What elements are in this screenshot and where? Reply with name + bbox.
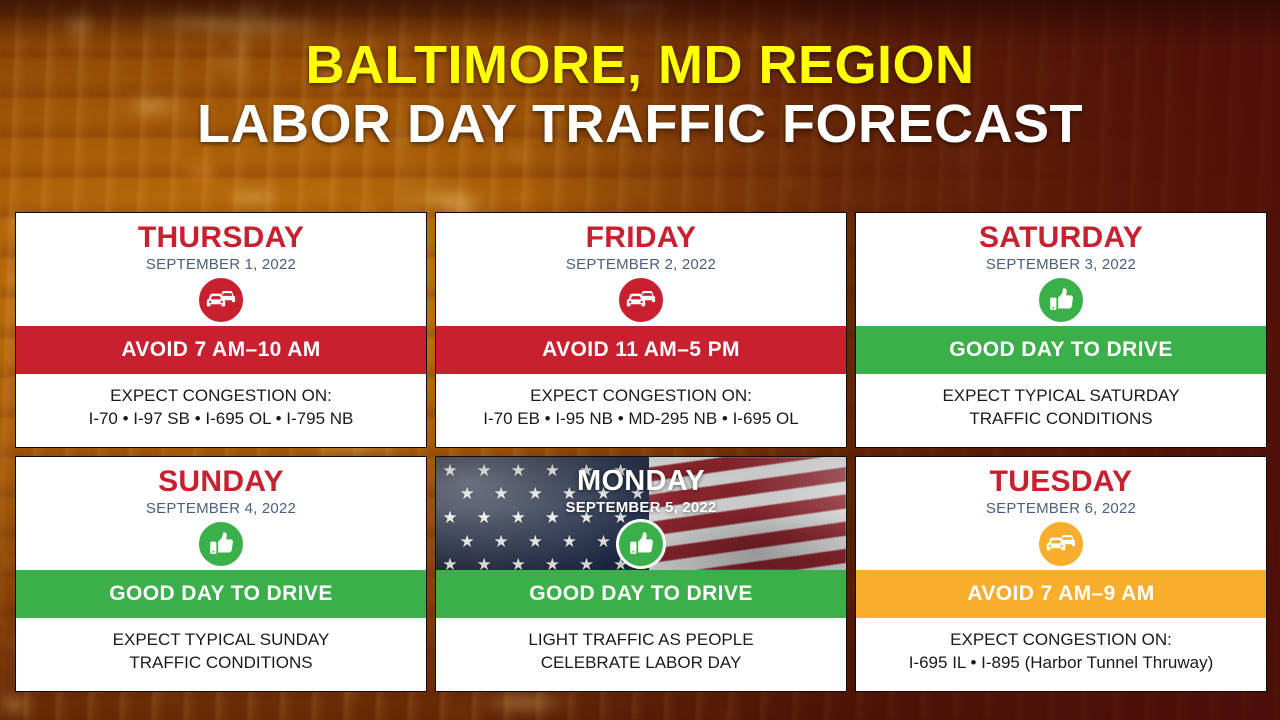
detail-line-2: CELEBRATE LABOR DAY: [528, 652, 753, 674]
forecast-card-saturday: SATURDAYSEPTEMBER 3, 2022GOOD DAY TO DRI…: [855, 212, 1267, 448]
status-band: AVOID 7 AM–10 AM: [16, 326, 426, 374]
forecast-card-monday: ★★★★★★★★★★★★★★★★★★★★★★★★★★★★★★MONDAYSEPT…: [435, 456, 847, 692]
page-title-region: BALTIMORE, MD REGION: [0, 38, 1280, 93]
status-band: GOOD DAY TO DRIVE: [856, 326, 1266, 374]
forecast-card-friday: FRIDAYSEPTEMBER 2, 2022AVOID 11 AM–5 PME…: [435, 212, 847, 448]
date-label: SEPTEMBER 3, 2022: [986, 256, 1136, 273]
date-label: SEPTEMBER 5, 2022: [566, 499, 717, 516]
card-detail: EXPECT CONGESTION ON:I-70 EB • I-95 NB •…: [436, 374, 846, 447]
traffic-cars-icon: [1036, 519, 1086, 569]
page-title-subject: LABOR DAY TRAFFIC FORECAST: [0, 93, 1280, 157]
detail-line-2: TRAFFIC CONDITIONS: [942, 408, 1179, 430]
date-label: SEPTEMBER 1, 2022: [146, 256, 296, 273]
card-header: FRIDAYSEPTEMBER 2, 2022: [436, 213, 846, 326]
detail-line-1: EXPECT TYPICAL SATURDAY: [942, 386, 1179, 405]
day-label: SUNDAY: [158, 466, 284, 498]
detail-line-1: EXPECT CONGESTION ON:: [950, 630, 1172, 649]
card-detail: LIGHT TRAFFIC AS PEOPLECELEBRATE LABOR D…: [436, 618, 846, 691]
status-badge: GOOD DAY TO DRIVE: [109, 582, 332, 606]
card-detail: EXPECT CONGESTION ON:I-695 IL • I-895 (H…: [856, 618, 1266, 691]
forecast-card-tuesday: TUESDAYSEPTEMBER 6, 2022AVOID 7 AM–9 AME…: [855, 456, 1267, 692]
card-detail: EXPECT CONGESTION ON:I-70 • I-97 SB • I-…: [16, 374, 426, 447]
status-band: GOOD DAY TO DRIVE: [16, 570, 426, 618]
status-badge: AVOID 11 AM–5 PM: [542, 338, 740, 362]
detail-line-2: TRAFFIC CONDITIONS: [113, 652, 330, 674]
card-header: THURSDAYSEPTEMBER 1, 2022: [16, 213, 426, 326]
day-label: THURSDAY: [138, 222, 304, 254]
status-badge: AVOID 7 AM–9 AM: [967, 582, 1154, 606]
thumbs-up-icon: [1036, 275, 1086, 325]
detail-line-2: I-695 IL • I-895 (Harbor Tunnel Thruway): [909, 652, 1214, 674]
card-detail: EXPECT TYPICAL SUNDAYTRAFFIC CONDITIONS: [16, 618, 426, 691]
detail-line-1: EXPECT CONGESTION ON:: [530, 386, 752, 405]
forecast-card-sunday: SUNDAYSEPTEMBER 4, 2022GOOD DAY TO DRIVE…: [15, 456, 427, 692]
card-header: SATURDAYSEPTEMBER 3, 2022: [856, 213, 1266, 326]
day-label: SATURDAY: [979, 222, 1143, 254]
status-badge: AVOID 7 AM–10 AM: [121, 338, 320, 362]
status-badge: GOOD DAY TO DRIVE: [949, 338, 1172, 362]
day-label: TUESDAY: [990, 466, 1133, 498]
card-detail: EXPECT TYPICAL SATURDAYTRAFFIC CONDITION…: [856, 374, 1266, 447]
detail-line-2: I-70 EB • I-95 NB • MD-295 NB • I-695 OL: [483, 408, 798, 430]
header: BALTIMORE, MD REGION LABOR DAY TRAFFIC F…: [0, 0, 1280, 157]
card-header: TUESDAYSEPTEMBER 6, 2022: [856, 457, 1266, 570]
detail-line-1: LIGHT TRAFFIC AS PEOPLE: [528, 630, 753, 649]
traffic-cars-icon: [196, 275, 246, 325]
status-band: GOOD DAY TO DRIVE: [436, 570, 846, 618]
date-label: SEPTEMBER 6, 2022: [986, 500, 1136, 517]
detail-line-2: I-70 • I-97 SB • I-695 OL • I-795 NB: [89, 408, 354, 430]
card-header: SUNDAYSEPTEMBER 4, 2022: [16, 457, 426, 570]
status-badge: GOOD DAY TO DRIVE: [529, 582, 752, 606]
card-header: ★★★★★★★★★★★★★★★★★★★★★★★★★★★★★★MONDAYSEPT…: [436, 457, 846, 570]
forecast-card-thursday: THURSDAYSEPTEMBER 1, 2022AVOID 7 AM–10 A…: [15, 212, 427, 448]
traffic-cars-icon: [616, 275, 666, 325]
status-band: AVOID 7 AM–9 AM: [856, 570, 1266, 618]
status-band: AVOID 11 AM–5 PM: [436, 326, 846, 374]
day-label: FRIDAY: [586, 222, 697, 254]
day-label: MONDAY: [577, 466, 705, 497]
detail-line-1: EXPECT TYPICAL SUNDAY: [113, 630, 330, 649]
forecast-card-grid: THURSDAYSEPTEMBER 1, 2022AVOID 7 AM–10 A…: [15, 212, 1267, 692]
date-label: SEPTEMBER 4, 2022: [146, 500, 296, 517]
detail-line-1: EXPECT CONGESTION ON:: [110, 386, 332, 405]
thumbs-up-icon: [616, 519, 666, 569]
thumbs-up-icon: [196, 519, 246, 569]
date-label: SEPTEMBER 2, 2022: [566, 256, 716, 273]
